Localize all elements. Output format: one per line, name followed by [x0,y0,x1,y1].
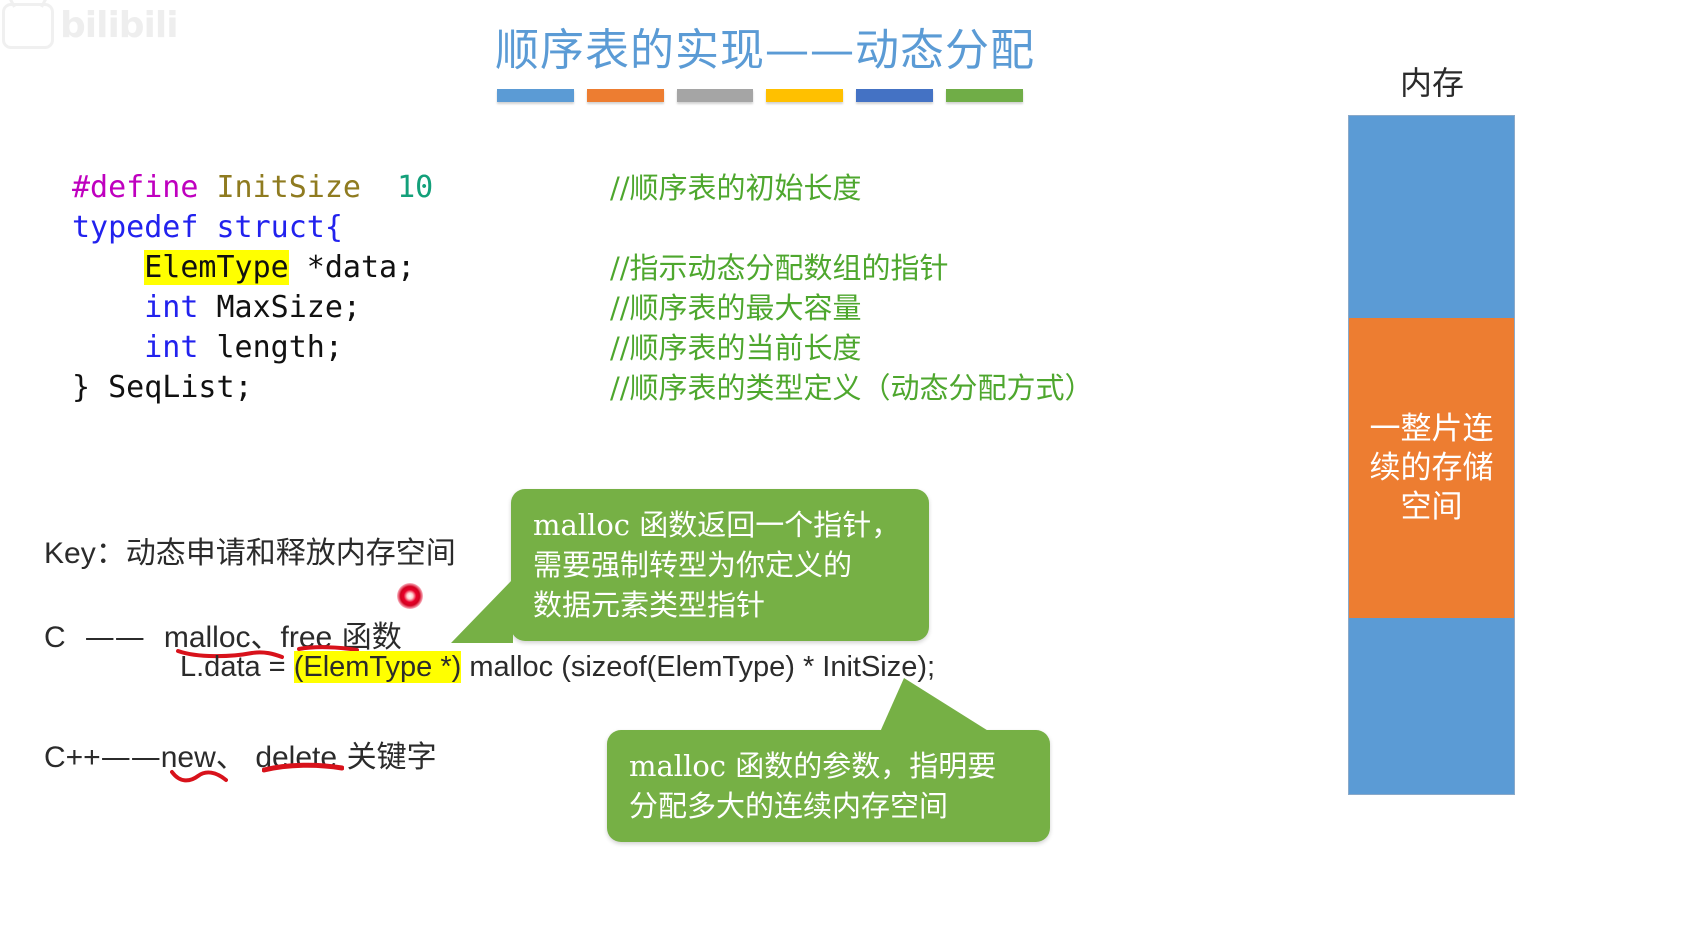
code-elemtype-highlight: ElemType [144,250,289,285]
new-red-underline [170,766,228,786]
code-indent-4 [72,290,144,325]
accent-bar-4 [766,89,843,102]
comment-line-6: //顺序表的类型定义（动态分配方式） [610,371,1094,405]
c-dash: —— [85,620,145,655]
laser-pointer-dot [397,583,423,609]
key-label: Key： [44,537,126,570]
comment-line-3: //指示动态分配数组的指针 [610,251,949,285]
ldata-suffix: malloc (sizeof(ElemType) * InitSize); [461,651,935,683]
memory-label: 内存 [1348,58,1516,104]
ldata-prefix: L.data = [180,651,294,683]
callout-2-text: malloc 函数的参数，指明要 分配多大的连续内存空间 [607,730,1050,842]
callout-tail-icon [451,579,513,643]
cpp-language-row: C++——new、 delete 关键字 [44,732,437,776]
accent-bar-1 [497,89,574,102]
code-length-field: length; [198,330,343,365]
code-macro-value: 10 [397,170,433,205]
code-define-keyword: #define [72,170,198,205]
comment-line-1: //顺序表的初始长度 [610,171,862,205]
code-int-keyword-length: int [144,330,198,365]
accent-bar-2 [587,89,664,102]
comment-line-4: //顺序表的最大容量 [610,291,862,325]
memory-segment-allocated-label: 一整片连 续的存储 空间 [1370,410,1494,527]
ldata-assignment-row: L.data = (ElemType *) malloc (sizeof(Ele… [180,651,935,684]
callout-malloc-argument: malloc 函数的参数，指明要 分配多大的连续内存空间 [607,730,1050,842]
key-text: 动态申请和释放内存空间 [126,536,456,571]
callout-malloc-return: malloc 函数返回一个指针， 需要强制转型为你定义的 数据元素类型指针 [511,489,929,641]
comment-line-5: //顺序表的当前长度 [610,331,862,365]
accent-bar-5 [856,89,933,102]
c-language-label: C [44,621,66,654]
memory-column: 一整片连 续的存储 空间 [1348,115,1515,795]
code-data-field: *data; [289,250,415,285]
callout-1-text: malloc 函数返回一个指针， 需要强制转型为你定义的 数据元素类型指针 [511,489,929,641]
code-block: #define InitSize 10 typedef struct{ Elem… [72,168,433,408]
memory-segment-free-bottom [1349,618,1514,794]
cpp-keyword-suffix: 关键字 [337,740,437,775]
accent-bar-3 [677,89,754,102]
code-typedef-struct: typedef struct{ [72,210,343,245]
code-indent-5 [72,330,144,365]
code-struct-close: } SeqList; [72,370,253,405]
memory-segment-free-top [1349,116,1514,318]
code-macro-name: InitSize [217,170,362,205]
memory-segment-allocated: 一整片连 续的存储 空间 [1349,318,1514,618]
title-accent-bars [497,89,1023,102]
cpp-dash: —— [101,740,161,775]
cpp-language-label: C++ [44,741,101,774]
accent-bar-6 [946,89,1023,102]
code-indent-3 [72,250,144,285]
code-int-keyword-maxsize: int [144,290,198,325]
delete-red-underline [262,762,344,774]
page-title: 顺序表的实现——动态分配 [0,14,1530,78]
key-note-row: Key：动态申请和释放内存空间 [44,528,456,572]
slide-canvas: bilibili 顺序表的实现——动态分配 #define InitSize 1… [0,0,1689,952]
code-maxsize-field: MaxSize; [198,290,361,325]
code-comments: //顺序表的初始长度 . //指示动态分配数组的指针 //顺序表的最大容量 //… [610,168,1094,408]
callout-tail-icon [880,678,990,732]
elemtype-cast-highlight: (ElemType *) [294,651,462,683]
